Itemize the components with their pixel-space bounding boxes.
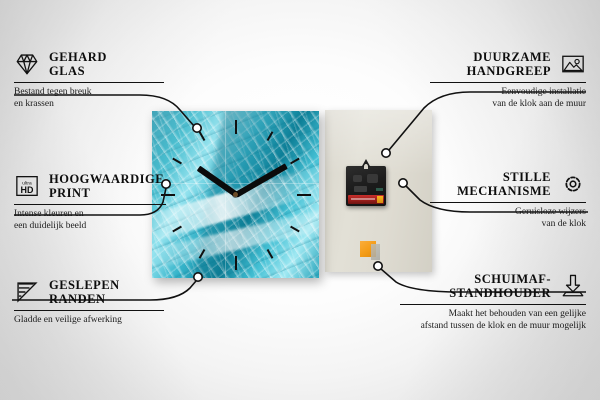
callout-header: DUURZAME HANDGREEP xyxy=(430,50,586,78)
callout-title: STILLE MECHANISME xyxy=(457,170,551,198)
diagonal-lines-icon xyxy=(14,279,40,305)
callout-rule xyxy=(430,82,586,83)
callout-header: SCHUIMAF- STANDHOUDER xyxy=(400,272,586,300)
picture-frame-icon xyxy=(560,51,586,77)
callout-description: Intense kleuren en een duidelijk beeld xyxy=(14,209,166,232)
callout-title: GESLEPEN RANDEN xyxy=(49,278,120,306)
battery-stripe xyxy=(351,198,375,200)
callout-rule xyxy=(14,310,164,311)
callout-title: GEHARD GLAS xyxy=(49,50,107,78)
movement-knob-secondary xyxy=(367,174,378,183)
stamp-down-arrow-icon xyxy=(560,273,586,299)
callout-description: Eenvoudige installatie van de klok aan d… xyxy=(430,87,586,110)
hanger-hole-icon xyxy=(364,164,368,169)
movement-contact xyxy=(376,188,383,191)
hour-tick xyxy=(235,256,237,270)
callout-description: Bestand tegen breuk en krassen xyxy=(14,87,164,110)
callout-header: STILLE MECHANISME xyxy=(430,170,586,198)
movement-knob xyxy=(353,175,362,182)
foam-spacer xyxy=(360,241,376,257)
hour-tick xyxy=(297,194,311,196)
ultra-hd-icon: ultra HD xyxy=(14,173,40,199)
hand-pivot xyxy=(233,192,238,197)
callout-stille-mechanisme: STILLE MECHANISME Geruisloze wijzers van… xyxy=(430,170,586,230)
callout-hoogwaardige-print: ultra HD HOOGWAARDIGE PRINT Intense kleu… xyxy=(14,172,166,232)
hour-tick xyxy=(235,120,237,134)
callout-gehard-glas: GEHARD GLAS Bestand tegen breuk en krass… xyxy=(14,50,164,110)
callout-header: ultra HD HOOGWAARDIGE PRINT xyxy=(14,172,166,200)
callout-rule xyxy=(430,202,586,203)
callout-schuimaf-standhouder: SCHUIMAF- STANDHOUDER Maakt het behouden… xyxy=(400,272,586,332)
callout-duurzame-handgreep: DUURZAME HANDGREEP Eenvoudige installati… xyxy=(430,50,586,110)
callout-title: HOOGWAARDIGE PRINT xyxy=(49,172,164,200)
infographic-canvas: GEHARD GLAS Bestand tegen breuk en krass… xyxy=(0,0,600,400)
callout-title: SCHUIMAF- STANDHOUDER xyxy=(449,272,551,300)
svg-text:HD: HD xyxy=(21,185,34,195)
movement-slot xyxy=(354,186,367,192)
gear-icon xyxy=(560,171,586,197)
callout-rule xyxy=(14,82,164,83)
callout-rule xyxy=(400,304,586,305)
glass-clock-face xyxy=(152,111,319,278)
callout-header: GESLEPEN RANDEN xyxy=(14,278,164,306)
callout-rule xyxy=(14,204,166,205)
battery xyxy=(348,195,384,204)
callout-header: GEHARD GLAS xyxy=(14,50,164,78)
callout-title: DUURZAME HANDGREEP xyxy=(467,50,551,78)
callout-geslepen-randen: GESLEPEN RANDEN Gladde en veilige afwerk… xyxy=(14,278,164,327)
callout-description: Maakt het behouden van een gelijke afsta… xyxy=(400,309,586,332)
callout-description: Gladde en veilige afwerking xyxy=(14,315,164,327)
diamond-icon xyxy=(14,51,40,77)
callout-description: Geruisloze wijzers van de klok xyxy=(430,207,586,230)
quartz-movement xyxy=(346,166,386,206)
